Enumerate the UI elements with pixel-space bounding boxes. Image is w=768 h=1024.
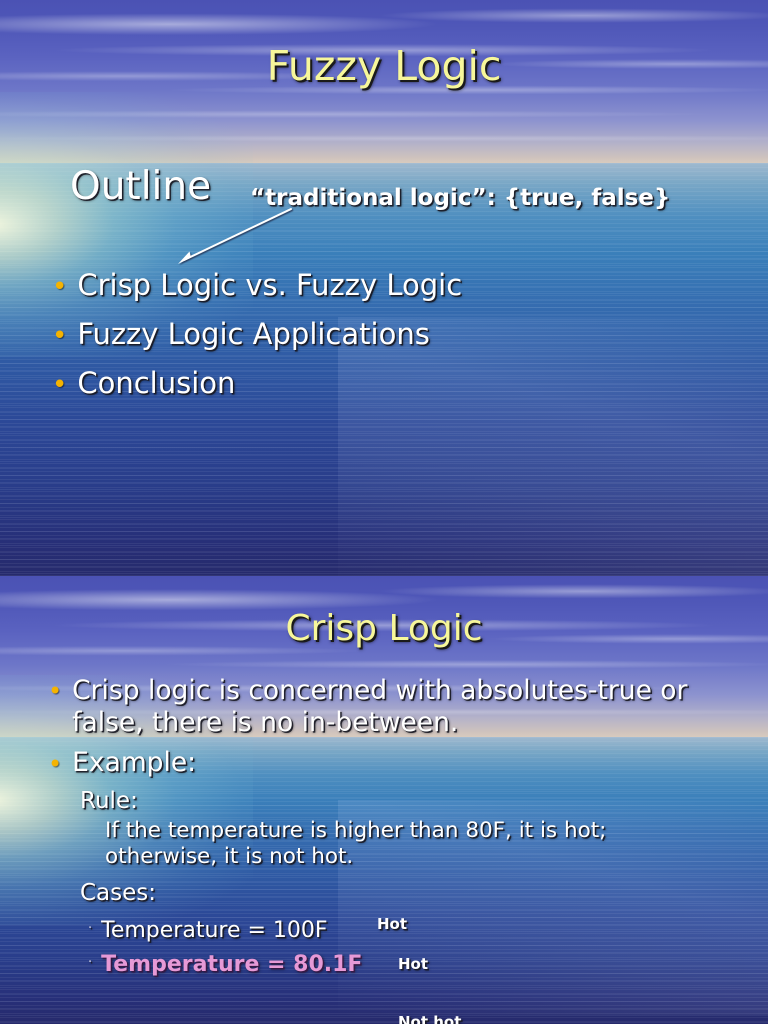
case-row-highlighted[interactable]: · Temperature = 80.1F <box>88 952 362 977</box>
rule-label: Rule: <box>80 788 138 814</box>
case-label: Temperature = 80.1F <box>101 952 362 977</box>
case-result-tag-cutoff: Not hot <box>398 1013 461 1024</box>
case-result-tag: Hot <box>377 915 407 933</box>
list-item[interactable]: • Example: <box>48 748 196 778</box>
dash-bullet-icon: · <box>88 921 92 936</box>
bullet-dot-icon: • <box>48 679 62 703</box>
rule-text: If the temperature is higher than 80F, i… <box>105 818 725 870</box>
bullet-dot-icon: • <box>48 752 62 776</box>
case-label: Temperature = 100F <box>101 918 327 943</box>
slides-page: Fuzzy Logic Outline “traditional logic”:… <box>0 0 768 1024</box>
case-row[interactable]: · Temperature = 100F <box>88 918 328 943</box>
cases-label: Cases: <box>80 880 156 906</box>
slide-2-content: Crisp Logic • Crisp logic is concerned w… <box>0 0 768 1024</box>
case-result-tag: Hot <box>398 955 428 973</box>
list-item-label: Crisp logic is concerned with absolutes-… <box>72 675 748 740</box>
list-item[interactable]: • Crisp logic is concerned with absolute… <box>48 675 748 740</box>
slide-title: Crisp Logic <box>0 608 768 649</box>
list-item-label: Example: <box>72 748 196 778</box>
dash-bullet-icon: · <box>88 955 92 970</box>
